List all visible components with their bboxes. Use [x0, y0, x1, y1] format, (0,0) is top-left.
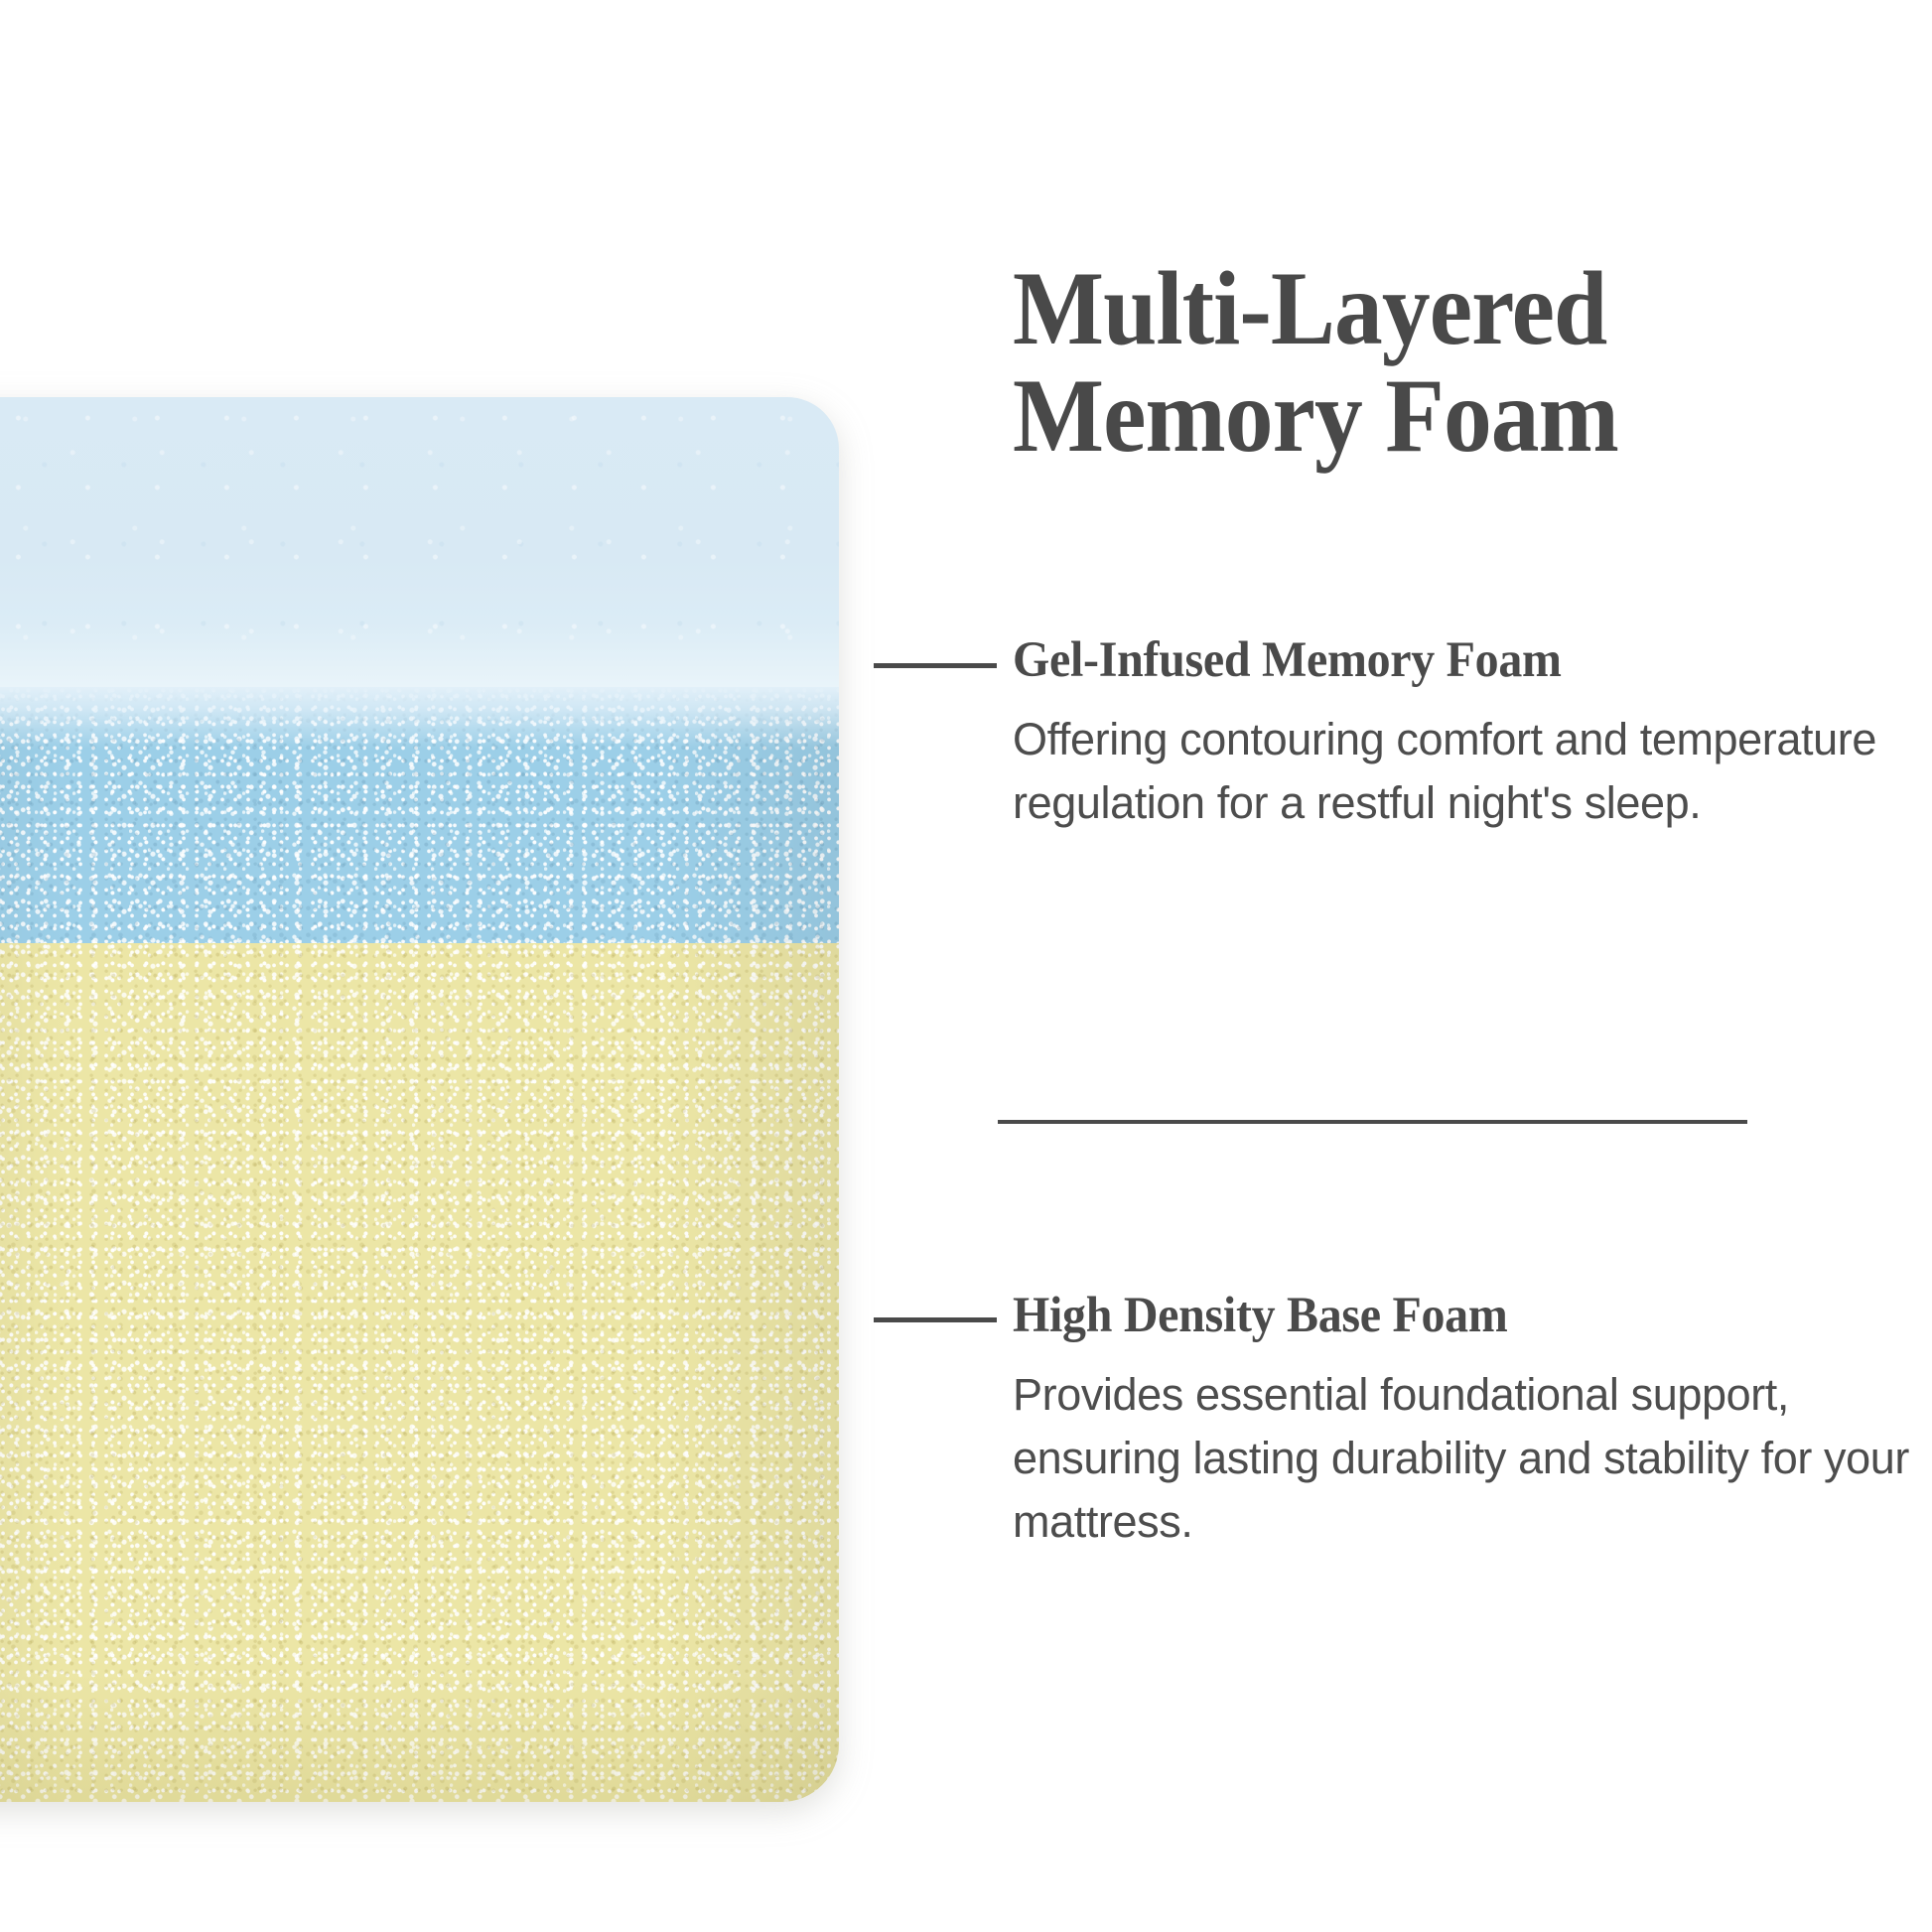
- feature-heading: High Density Base Foam: [1013, 1291, 1853, 1341]
- feature-description: Provides essential foundational support,…: [1013, 1363, 1911, 1554]
- feature-gel-infused-memory-foam: Gel-Infused Memory Foam Offering contour…: [1013, 635, 1906, 835]
- leader-line-icon: [874, 663, 997, 668]
- leader-line-icon: [874, 1317, 997, 1322]
- foam-bottom-shading: [0, 1673, 839, 1802]
- feature-high-density-base-foam: High Density Base Foam Provides essentia…: [1013, 1291, 1906, 1554]
- foam-top-surface: [0, 397, 839, 687]
- feature-heading: Gel-Infused Memory Foam: [1013, 635, 1853, 686]
- infographic-canvas: Multi-Layered Memory Foam Gel-Infused Me…: [0, 0, 1932, 1932]
- page-title: Multi-Layered Memory Foam: [1013, 255, 1863, 470]
- gel-infused-memory-foam-layer: [0, 687, 839, 943]
- section-divider: [998, 1120, 1747, 1124]
- foam-edge-highlight: [0, 687, 839, 749]
- feature-description: Offering contouring comfort and temperat…: [1013, 708, 1911, 835]
- text-column: Multi-Layered Memory Foam Gel-Infused Me…: [1003, 0, 1932, 1932]
- foam-block-image: [0, 397, 839, 1802]
- high-density-base-foam-layer: [0, 943, 839, 1802]
